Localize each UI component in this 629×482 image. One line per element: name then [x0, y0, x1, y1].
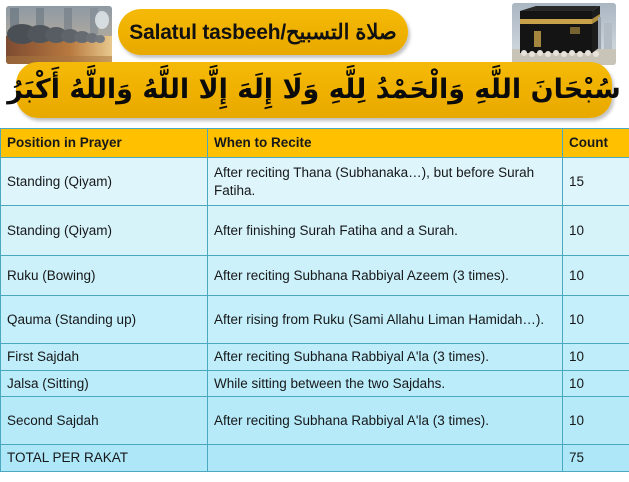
cell-when-total — [208, 445, 563, 472]
cell-count: 10 — [563, 344, 629, 371]
worshippers-prostrating-photo — [6, 6, 112, 64]
cell-position-total: TOTAL PER RAKAT — [1, 445, 208, 472]
cell-position: Qauma (Standing up) — [1, 296, 208, 344]
table-header-row: Position in Prayer When to Recite Count — [1, 129, 629, 158]
table-row: Standing (Qiyam) After finishing Surah F… — [1, 206, 629, 256]
cell-position: Standing (Qiyam) — [1, 158, 208, 206]
header-banner-zone: Salatul tasbeeh/صلاة التسبيح — [0, 0, 629, 128]
total-row: TOTAL PER RAKAT 75 — [1, 445, 629, 472]
page-title: Salatul tasbeeh/صلاة التسبيح — [129, 20, 396, 45]
cell-when: After reciting Thana (Subhanaka…), but b… — [208, 158, 563, 206]
column-header-when: When to Recite — [208, 129, 563, 158]
cell-when: After reciting Subhana Rabbiyal A'la (3 … — [208, 397, 563, 445]
page-title-pill: Salatul tasbeeh/صلاة التسبيح — [118, 9, 408, 55]
cell-when: After finishing Surah Fatiha and a Surah… — [208, 206, 563, 256]
cell-when: While sitting between the two Sajdahs. — [208, 371, 563, 397]
cell-position: Jalsa (Sitting) — [1, 371, 208, 397]
column-header-count: Count — [563, 129, 629, 158]
cell-count: 10 — [563, 397, 629, 445]
tasbeeh-arabic-banner: سُبْحَانَ اللَّهِ وَالْحَمْدُ لِلَّهِ وَ… — [16, 62, 612, 118]
cell-when: After reciting Subhana Rabbiyal A'la (3 … — [208, 344, 563, 371]
cell-when: After reciting Subhana Rabbiyal Azeem (3… — [208, 256, 563, 296]
table-row: Ruku (Bowing) After reciting Subhana Rab… — [1, 256, 629, 296]
table-row: Qauma (Standing up) After rising from Ru… — [1, 296, 629, 344]
kaaba-photo — [512, 3, 616, 65]
tasbeeh-arabic-text: سُبْحَانَ اللَّهِ وَالْحَمْدُ لِلَّهِ وَ… — [7, 72, 621, 107]
prayer-positions-table: Position in Prayer When to Recite Count … — [0, 128, 629, 472]
cell-position: Second Sajdah — [1, 397, 208, 445]
cell-position: Ruku (Bowing) — [1, 256, 208, 296]
table-row: First Sajdah After reciting Subhana Rabb… — [1, 344, 629, 371]
cell-count: 10 — [563, 206, 629, 256]
table-row: Jalsa (Sitting) While sitting between th… — [1, 371, 629, 397]
cell-count: 10 — [563, 371, 629, 397]
cell-count-total: 75 — [563, 445, 629, 472]
cell-count: 15 — [563, 158, 629, 206]
cell-count: 10 — [563, 296, 629, 344]
cell-count: 10 — [563, 256, 629, 296]
cell-position: First Sajdah — [1, 344, 208, 371]
column-header-position: Position in Prayer — [1, 129, 208, 158]
cell-position: Standing (Qiyam) — [1, 206, 208, 256]
table-row: Second Sajdah After reciting Subhana Rab… — [1, 397, 629, 445]
cell-when: After rising from Ruku (Sami Allahu Lima… — [208, 296, 563, 344]
table-row: Standing (Qiyam) After reciting Thana (S… — [1, 158, 629, 206]
